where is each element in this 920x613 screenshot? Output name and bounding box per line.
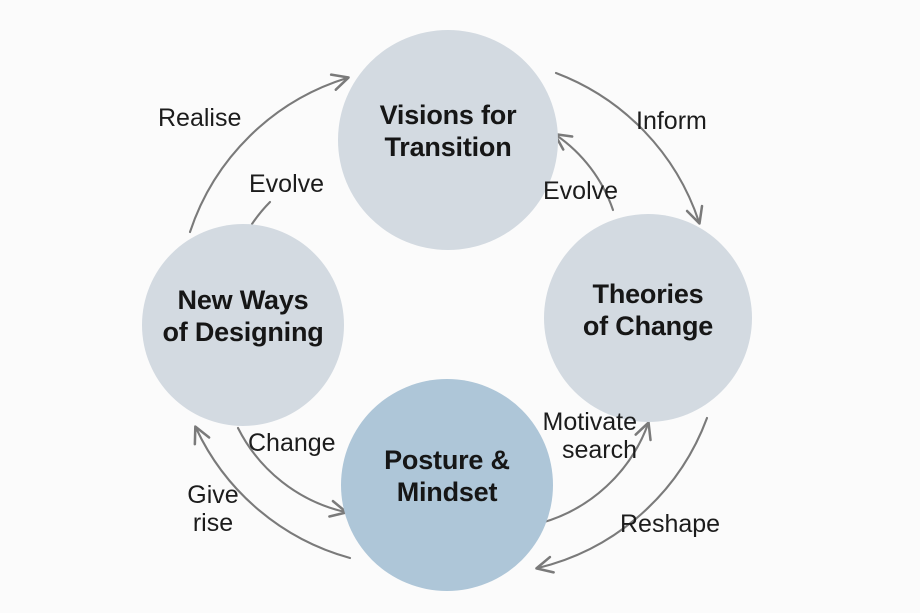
edge-label-evolve-left: Evolve	[249, 170, 324, 198]
edge-label-change: Change	[248, 429, 336, 457]
transition-design-cycle-diagram: Visions for Transition Theories of Chang…	[0, 0, 920, 613]
edge-arc-evolve-left	[252, 202, 270, 224]
edge-label-give-rise: Give rise	[168, 481, 258, 537]
edge-label-evolve-right: Evolve	[543, 177, 618, 205]
node-circle-designing[interactable]	[142, 224, 344, 426]
edge-label-realise: Realise	[158, 104, 241, 132]
edge-label-reshape: Reshape	[620, 510, 720, 538]
diagram-canvas	[0, 0, 920, 613]
node-circle-theories[interactable]	[544, 214, 752, 422]
edge-label-motivate-search: Motivate search	[482, 408, 637, 464]
edge-label-inform: Inform	[636, 107, 707, 135]
edge-arc-realise	[190, 78, 347, 232]
node-circle-visions[interactable]	[338, 30, 558, 250]
